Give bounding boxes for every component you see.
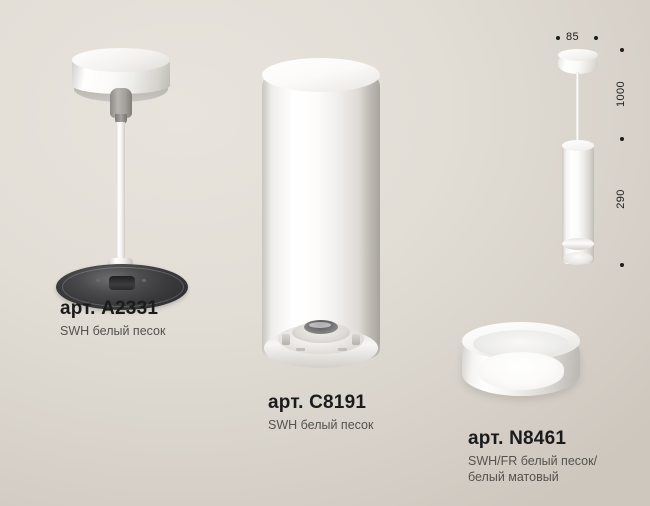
finish-a2331: SWH белый песок (60, 323, 165, 339)
label-c8191: арт. C8191 SWH белый песок (268, 392, 373, 433)
label-a2331: арт. A2331 SWH белый песок (60, 298, 165, 339)
bottom-marking (296, 348, 305, 351)
product-a2331-illustration (52, 36, 192, 286)
bottom-marking (338, 348, 347, 351)
lamp-socket-highlight (309, 322, 331, 328)
dim-dot-width-right (594, 36, 598, 40)
dim-dot-drop-top (620, 48, 624, 52)
finish-n8461-line1: SWH/FR белый песок/ (468, 453, 597, 469)
product-c8191-illustration (262, 56, 388, 372)
suspension-rod (116, 122, 125, 270)
disc-detail-dot (96, 279, 100, 282)
dim-dot-fixture-bottom (620, 263, 624, 267)
assembled-pendant-illustration (548, 48, 608, 270)
canopy-top-face (72, 48, 170, 72)
product-n8461-illustration (462, 322, 584, 412)
article-code-c8191: арт. C8191 (268, 392, 373, 414)
mounting-disc-hub (109, 276, 135, 290)
assembly-canopy-top (558, 49, 598, 61)
label-n8461: арт. N8461 SWH/FR белый песок/ белый мат… (468, 428, 597, 485)
finish-n8461-line2: белый матовый (468, 469, 597, 485)
assembly-rod (576, 72, 579, 148)
assembly-cylinder-top (562, 140, 594, 151)
dim-value-drop-length: 1000 (615, 79, 627, 109)
fixing-screw (282, 334, 290, 345)
fixing-screw (352, 334, 360, 345)
dim-dot-width-left (556, 36, 560, 40)
dim-dot-drop-bottom (620, 137, 624, 141)
product-diagram-canvas: арт. A2331 SWH белый песок арт. C8191 SW… (0, 0, 650, 506)
cylinder-shading (358, 76, 380, 352)
assembly-bottom-ring (562, 238, 594, 250)
assembly-bottom-face (563, 252, 593, 265)
article-code-n8461: арт. N8461 (468, 428, 597, 450)
shade-diffuser (478, 352, 564, 390)
finish-c8191: SWH белый песок (268, 417, 373, 433)
dim-value-fixture-length: 290 (615, 185, 627, 213)
cylinder-top-cap (262, 58, 380, 92)
article-code-a2331: арт. A2331 (60, 298, 165, 320)
disc-detail-dot (142, 279, 146, 282)
dim-value-width: 85 (566, 31, 579, 43)
